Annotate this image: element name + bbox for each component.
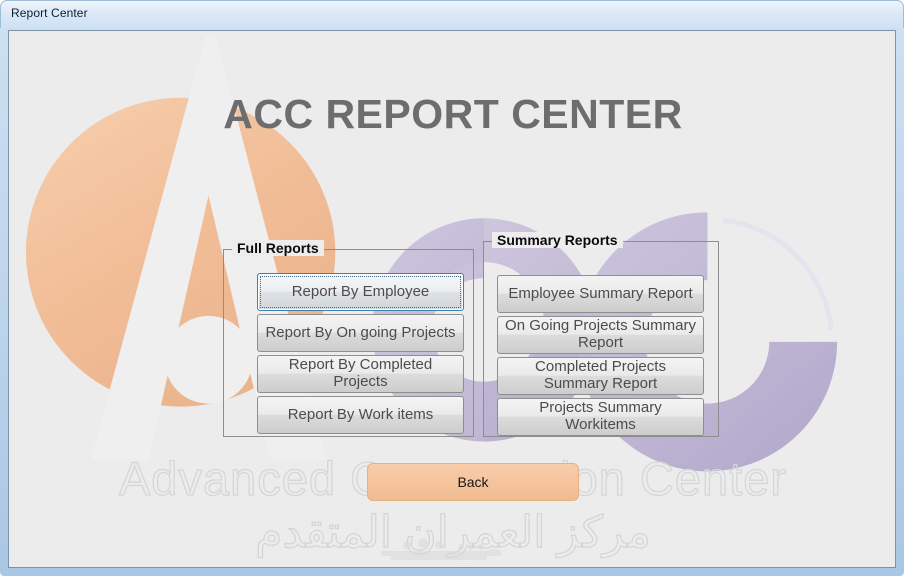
back-button[interactable]: Back xyxy=(367,463,579,501)
button-employee-summary-report[interactable]: Employee Summary Report xyxy=(497,275,704,313)
window-titlebar[interactable]: Report Center xyxy=(0,0,904,28)
button-completed-projects-summary-report[interactable]: Completed Projects Summary Report xyxy=(497,357,704,395)
mostaql-watermark-text: mostaql.com xyxy=(9,563,896,568)
group-full-reports-legend: Full Reports xyxy=(232,240,324,256)
button-report-by-ongoing-projects[interactable]: Report By On going Projects xyxy=(257,314,464,352)
button-ongoing-projects-summary-report[interactable]: On Going Projects Summary Report xyxy=(497,316,704,354)
screen: Report Center xyxy=(0,0,904,576)
button-report-by-completed-projects[interactable]: Report By Completed Projects xyxy=(257,355,464,393)
window-client-area: Advanced Construction Center مركز العمرا… xyxy=(8,30,896,568)
watermark-arabic: مركز العمران المتقدم xyxy=(9,507,896,558)
button-projects-summary-workitems[interactable]: Projects Summary Workitems xyxy=(497,398,704,436)
mostaql-logo-icon xyxy=(377,537,527,568)
button-report-by-employee[interactable]: Report By Employee xyxy=(257,273,464,311)
page-title: ACC REPORT CENTER xyxy=(9,91,896,138)
button-report-by-work-items[interactable]: Report By Work items xyxy=(257,396,464,434)
group-summary-reports-legend: Summary Reports xyxy=(492,232,623,248)
window-title: Report Center xyxy=(11,6,88,20)
application-window: Report Center xyxy=(0,0,904,576)
